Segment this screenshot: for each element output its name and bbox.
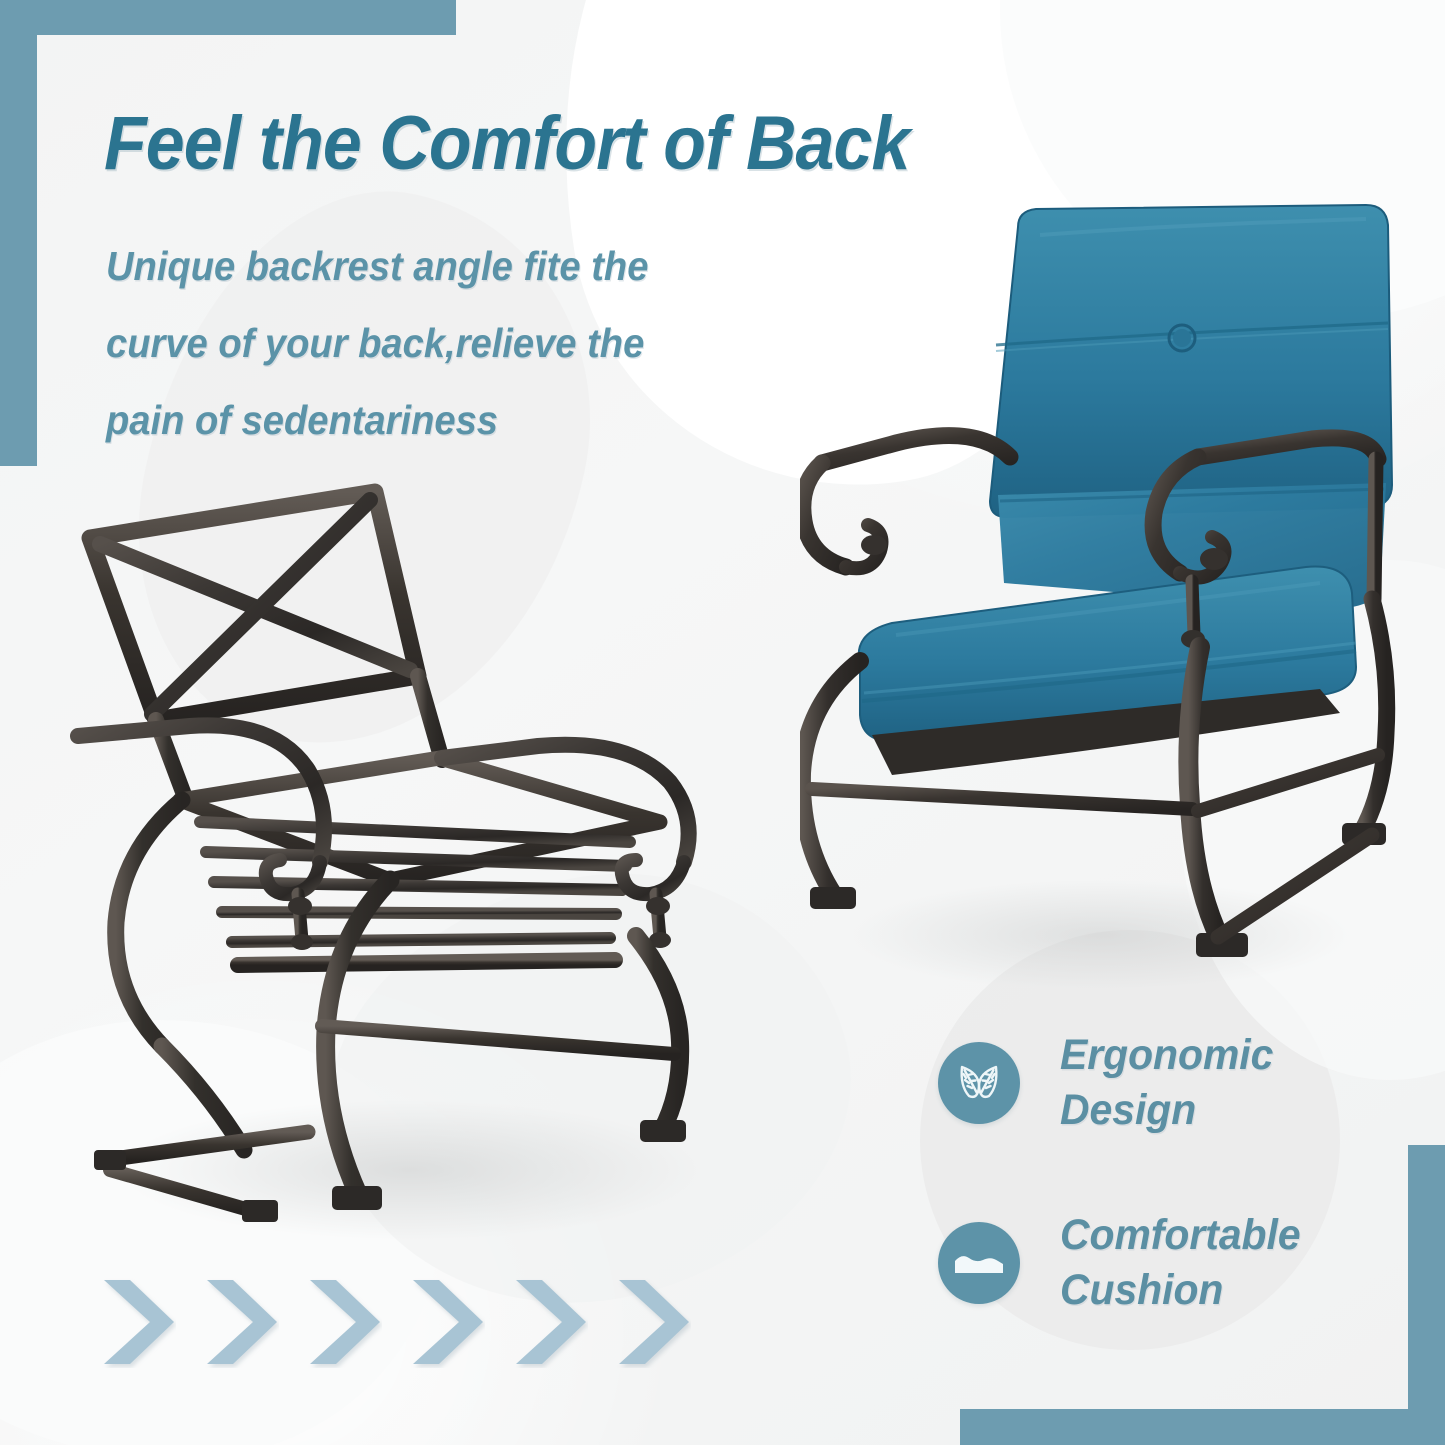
subheadline: Unique backrest angle fite the curve of … — [106, 228, 813, 459]
corner-bracket-top-left-horizontal — [0, 0, 456, 35]
corner-bracket-bottom-right-horizontal — [960, 1409, 1445, 1445]
leaf-icon — [938, 1042, 1020, 1124]
feature-label-line-2: Cushion — [1060, 1263, 1301, 1318]
feature-ergonomic-design: Ergonomic Design — [938, 1028, 1285, 1138]
subheadline-line-1: Unique backrest angle fite the — [106, 228, 813, 305]
corner-bracket-top-left-vertical — [0, 0, 37, 466]
feature-label: Comfortable Cushion — [1060, 1208, 1301, 1318]
subheadline-line-2: curve of your back,relieve the — [106, 305, 813, 382]
feature-label-line-1: Ergonomic — [1060, 1028, 1273, 1083]
corner-bracket-bottom-right-vertical — [1408, 1145, 1445, 1445]
chevron-strip — [100, 1276, 718, 1368]
chevron-right-icon — [306, 1276, 382, 1368]
chevron-right-icon — [512, 1276, 588, 1368]
feature-label-line-1: Comfortable — [1060, 1208, 1301, 1263]
subheadline-line-3: pain of sedentariness — [106, 382, 813, 459]
chevron-right-icon — [100, 1276, 176, 1368]
product-feature-banner: Feel the Comfort of Back Unique backrest… — [0, 0, 1445, 1445]
feature-comfortable-cushion: Comfortable Cushion — [938, 1208, 1313, 1318]
product-photo-metal-frame-chair — [70, 470, 730, 1260]
cushion-icon — [938, 1222, 1020, 1304]
feature-label-line-2: Design — [1060, 1083, 1273, 1138]
chevron-right-icon — [615, 1276, 691, 1368]
headline: Feel the Comfort of Back — [104, 106, 909, 182]
chevron-right-icon — [203, 1276, 279, 1368]
product-photo-cushioned-chair — [800, 195, 1400, 995]
chevron-right-icon — [409, 1276, 485, 1368]
feature-label: Ergonomic Design — [1060, 1028, 1273, 1138]
